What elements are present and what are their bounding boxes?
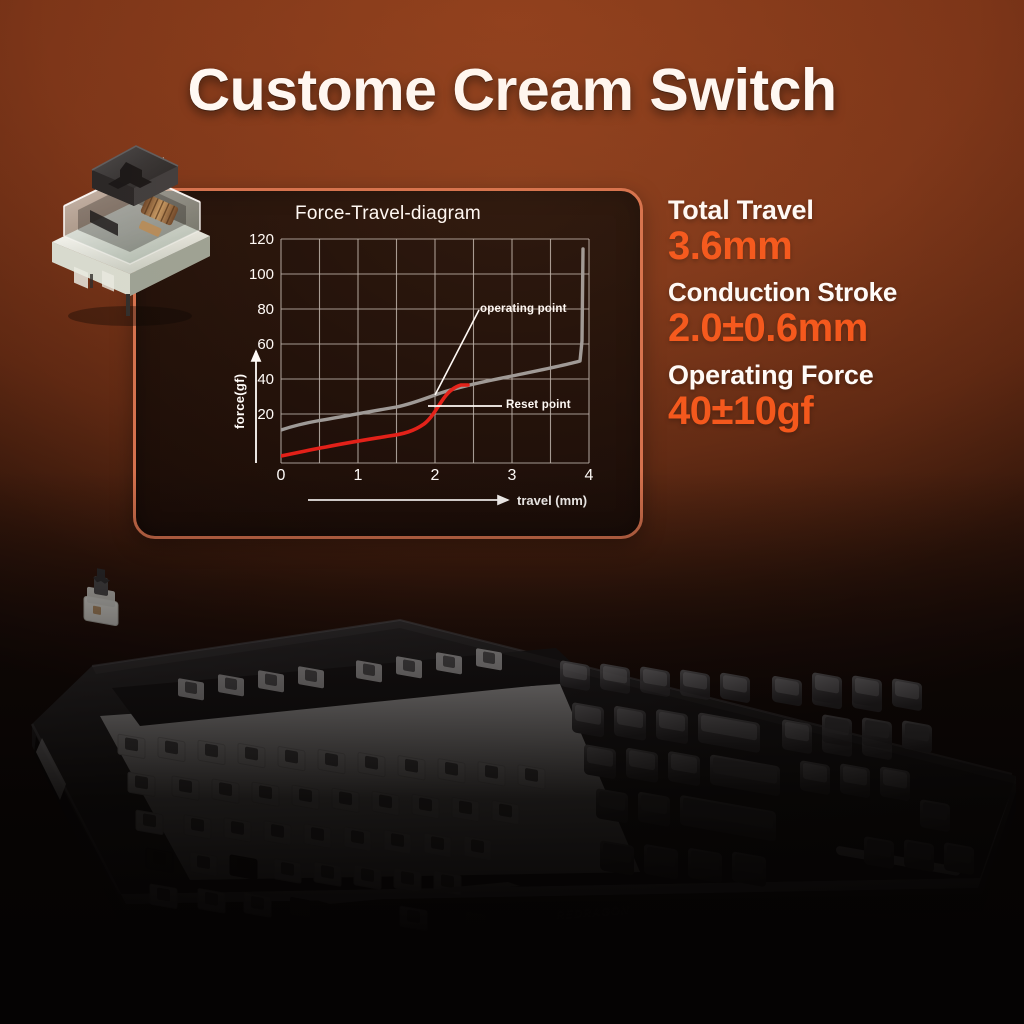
page-title: Custome Cream Switch (0, 56, 1024, 124)
detached-switch (84, 566, 118, 626)
y-tick-100: 100 (240, 266, 274, 283)
x-tick-3: 3 (501, 467, 523, 485)
x-tick-2: 2 (424, 467, 446, 485)
spec-label-conduction-stroke: Conduction Stroke (668, 279, 1008, 306)
x-tick-0: 0 (270, 467, 292, 485)
x-tick-1: 1 (347, 467, 369, 485)
annotation-reset-point: Reset point (506, 399, 571, 411)
y-tick-60: 60 (240, 336, 274, 353)
spec-list: Total Travel 3.6mm Conduction Stroke 2.0… (668, 196, 1008, 444)
y-tick-80: 80 (240, 301, 274, 318)
x-axis-label: travel (mm) (517, 493, 587, 508)
spec-operating-force: Operating Force 40±10gf (668, 361, 1008, 434)
product-marketing-image: Custome Cream Switch Force-Travel-diagra… (0, 0, 1024, 1024)
spec-value-total-travel: 3.6mm (668, 224, 1008, 269)
spec-value-conduction-stroke: 2.0±0.6mm (668, 306, 1008, 351)
keyboard-product-photo (0, 548, 1024, 988)
cream-switch-product-photo (30, 144, 230, 329)
spec-value-operating-force: 40±10gf (668, 389, 1008, 434)
spec-total-travel: Total Travel 3.6mm (668, 196, 1008, 269)
x-tick-4: 4 (578, 467, 600, 485)
y-axis-label: force(gf) (232, 374, 247, 429)
annotation-operating-point: operating point (480, 303, 567, 315)
y-tick-120: 120 (240, 231, 274, 248)
spec-conduction-stroke: Conduction Stroke 2.0±0.6mm (668, 279, 1008, 351)
spec-label-operating-force: Operating Force (668, 361, 1008, 389)
spec-label-total-travel: Total Travel (668, 196, 1008, 224)
